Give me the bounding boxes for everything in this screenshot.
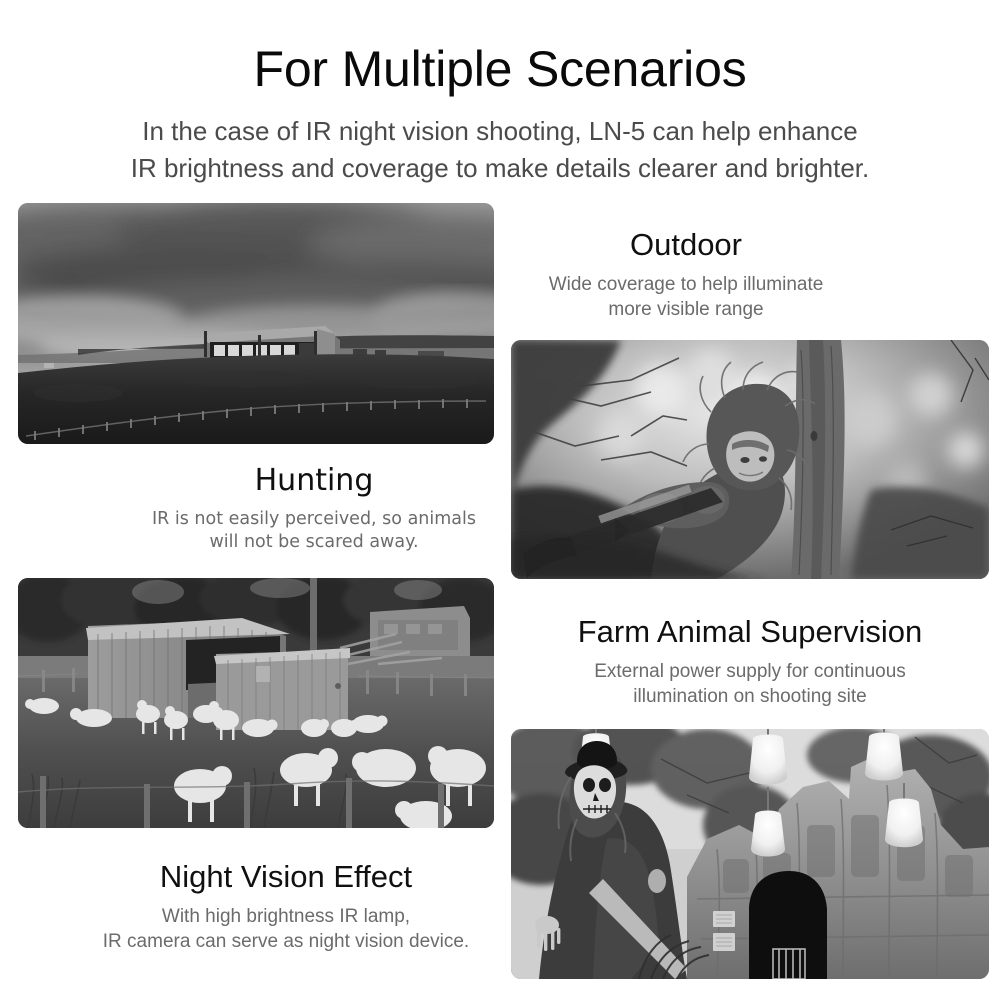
caption-body-hunting-line-2: will not be scared away.	[88, 531, 540, 554]
page-subtitle-line-1: In the case of IR night vision shooting,…	[0, 113, 1000, 150]
halloween-attraction-illustration	[511, 729, 989, 979]
ghillie-hunter-illustration	[511, 340, 989, 579]
caption-body-outdoor: Wide coverage to help illuminate more vi…	[511, 272, 861, 323]
caption-title-hunting: Hunting	[88, 463, 540, 499]
caption-body-farm-line-1: External power supply for continuous	[511, 659, 989, 684]
farm-barn-on-hill-under-dark-clouds-photo	[18, 203, 494, 444]
caption-body-outdoor-line-2: more visible range	[511, 297, 861, 322]
caption-body-night: With high brightness IR lamp, IR camera …	[60, 904, 512, 955]
caption-outdoor: Outdoor Wide coverage to help illuminate…	[511, 226, 861, 323]
caption-title-farm: Farm Animal Supervision	[511, 613, 989, 650]
promo-page: For Multiple Scenarios In the case of IR…	[0, 0, 1000, 1000]
caption-title-night: Night Vision Effect	[60, 858, 512, 895]
caption-body-hunting-line-1: IR is not easily perceived, so animals	[88, 508, 540, 531]
caption-body-outdoor-line-1: Wide coverage to help illuminate	[511, 272, 861, 297]
hunter-in-ghillie-suit-aiming-rifle-photo	[511, 340, 989, 579]
caption-hunting: Hunting IR is not easily perceived, so a…	[88, 463, 540, 555]
page-subtitle: In the case of IR night vision shooting,…	[0, 113, 1000, 187]
caption-body-hunting: IR is not easily perceived, so animals w…	[88, 508, 540, 555]
caption-body-farm-line-2: illumination on shooting site	[511, 684, 989, 709]
tree-trunk-shape	[791, 340, 845, 579]
barn-scene-illustration	[18, 203, 494, 444]
page-subtitle-line-2: IR brightness and coverage to make detai…	[0, 150, 1000, 187]
page-title: For Multiple Scenarios	[0, 41, 1000, 97]
caption-night-vision-effect: Night Vision Effect With high brightness…	[60, 858, 512, 955]
caption-body-farm: External power supply for continuous ill…	[511, 659, 989, 710]
sheep-paddock-illustration	[18, 578, 494, 828]
caption-title-outdoor: Outdoor	[511, 226, 861, 263]
caption-body-night-line-1: With high brightness IR lamp,	[60, 904, 512, 929]
caption-farm-animal-supervision: Farm Animal Supervision External power s…	[511, 613, 989, 710]
halloween-skeleton-figure-and-hanging-lanterns-photo	[511, 729, 989, 979]
sheep-flock-beside-corrugated-metal-sheds-photo	[18, 578, 494, 828]
caption-body-night-line-2: IR camera can serve as night vision devi…	[60, 929, 512, 954]
